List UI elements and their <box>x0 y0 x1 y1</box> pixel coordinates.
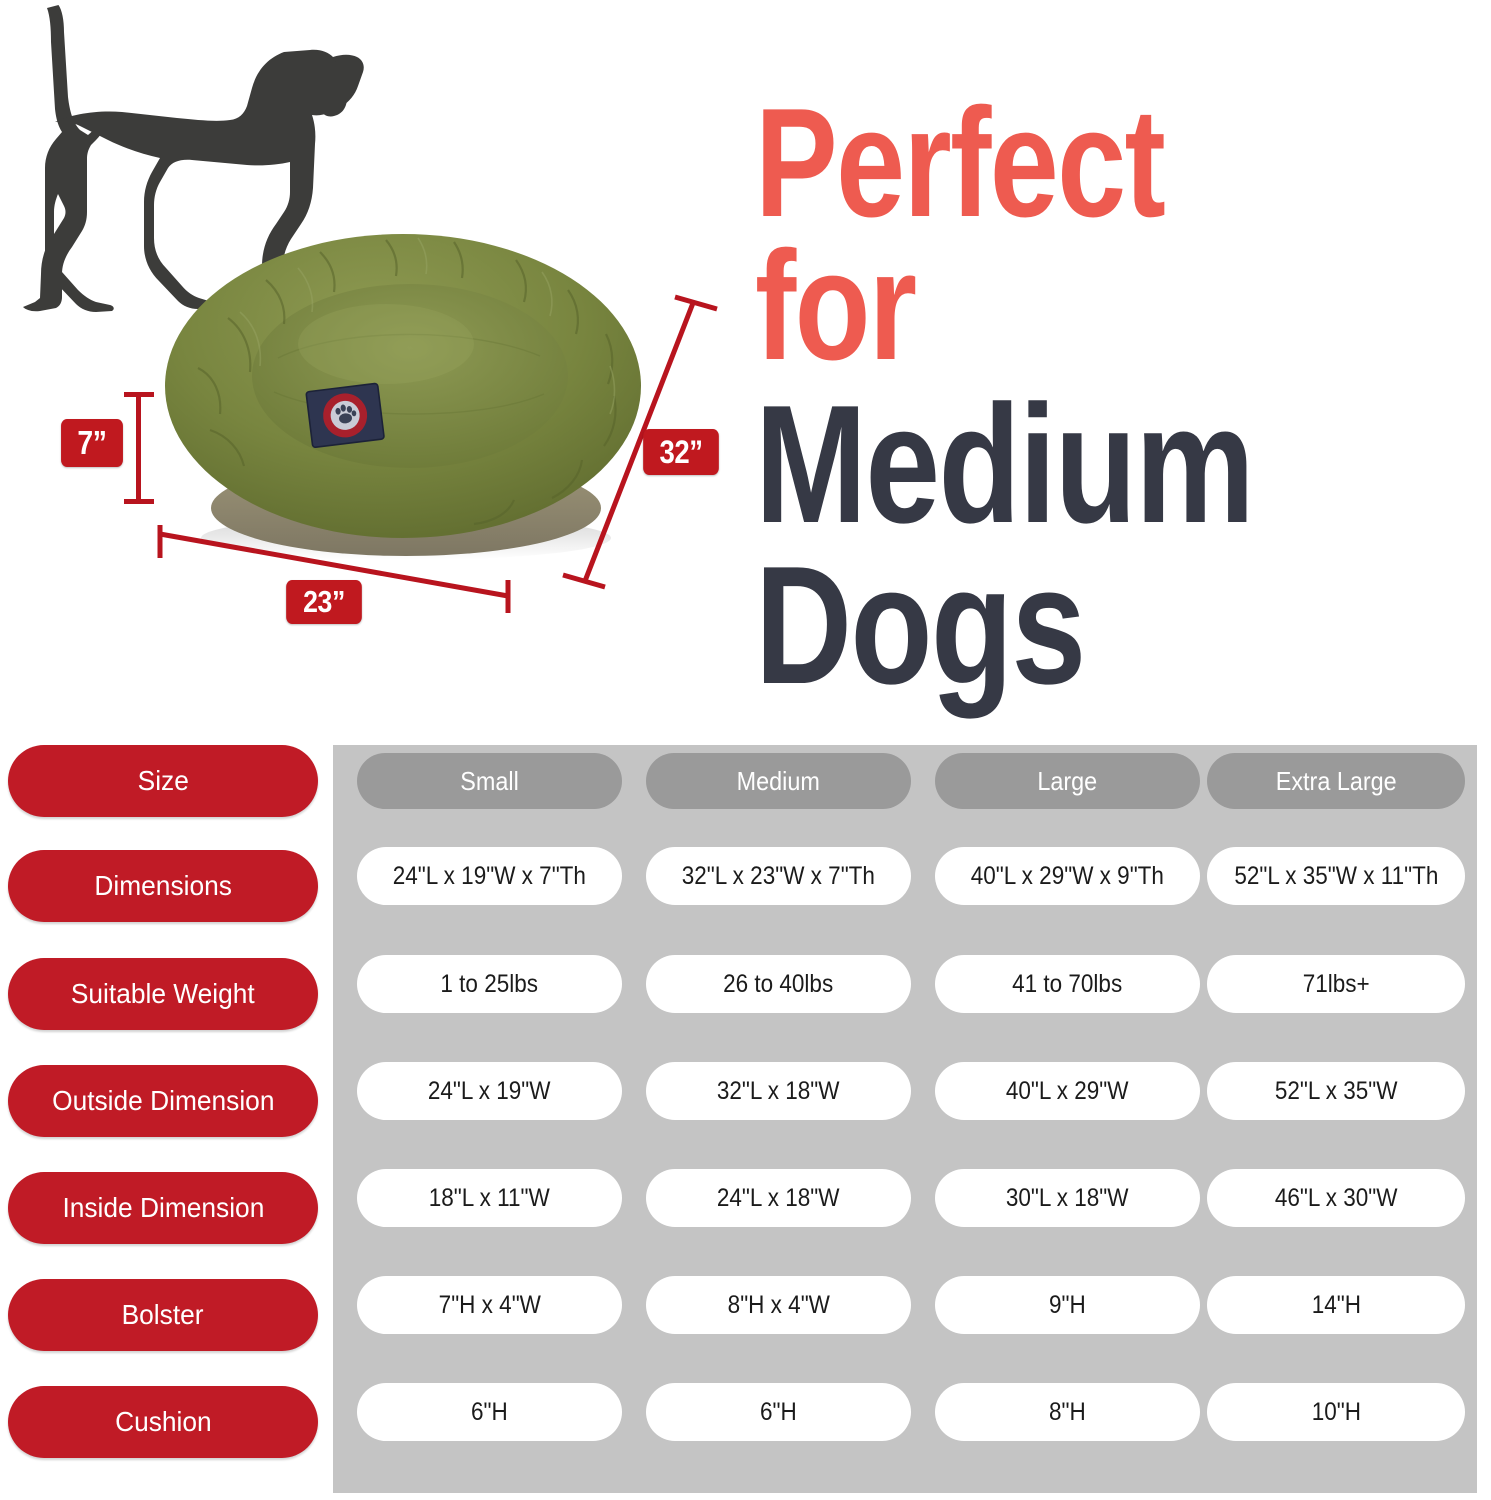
row-label-text: Suitable Weight <box>71 978 255 1010</box>
cell-text: 7"H x 4"W <box>438 1291 540 1320</box>
cell-weight-medium: 26 to 40lbs <box>646 955 911 1013</box>
cell-inside-small: 18"L x 11"W <box>357 1169 622 1227</box>
cell-text: 24"L x 18"W <box>717 1184 840 1213</box>
measure-line-height <box>136 392 141 504</box>
cell-text: 24"L x 19"W <box>428 1077 551 1106</box>
cell-text: 24"L x 19"W x 7"Th <box>393 862 586 891</box>
cell-text: 26 to 40lbs <box>723 970 833 999</box>
cell-dimensions-large: 40"L x 29"W x 9"Th <box>935 847 1200 905</box>
cell-text: 1 to 25lbs <box>441 970 539 999</box>
cell-text: 6"H <box>471 1398 508 1427</box>
row-label-text: Size <box>137 765 188 797</box>
row-label-text: Outside Dimension <box>52 1085 274 1117</box>
cell-outside-medium: 32"L x 18"W <box>646 1062 911 1120</box>
cell-weight-extra-large: 71lbs+ <box>1207 955 1465 1013</box>
column-header-small: Small <box>357 753 622 809</box>
cell-text: 40"L x 29"W <box>1006 1077 1129 1106</box>
brand-tag-icon <box>306 383 384 447</box>
cell-cushion-extra-large: 10"H <box>1207 1383 1465 1441</box>
column-header-text: Large <box>1038 766 1098 797</box>
headline-line-1: Perfect for <box>755 92 1339 377</box>
cell-weight-large: 41 to 70lbs <box>935 955 1200 1013</box>
callout-badge-width: 23” <box>286 580 362 624</box>
row-label-text: Dimensions <box>94 870 232 902</box>
cell-text: 40"L x 29"W x 9"Th <box>971 862 1164 891</box>
column-header-text: Small <box>460 766 519 797</box>
cell-inside-large: 30"L x 18"W <box>935 1169 1200 1227</box>
cell-inside-medium: 24"L x 18"W <box>646 1169 911 1227</box>
cell-cushion-medium: 6"H <box>646 1383 911 1441</box>
callout-badge-length: 32” <box>643 429 719 475</box>
cell-text: 30"L x 18"W <box>1006 1184 1129 1213</box>
cell-text: 32"L x 23"W x 7"Th <box>682 862 875 891</box>
row-label-inside-dimension: Inside Dimension <box>8 1172 318 1244</box>
cell-text: 71lbs+ <box>1303 970 1370 999</box>
cell-bolster-small: 7"H x 4"W <box>357 1276 622 1334</box>
callout-badge-height: 7” <box>61 419 123 467</box>
row-label-size: Size <box>8 745 318 817</box>
cell-text: 41 to 70lbs <box>1012 970 1122 999</box>
cell-text: 6"H <box>760 1398 797 1427</box>
cell-text: 14"H <box>1311 1291 1360 1320</box>
row-label-bolster: Bolster <box>8 1279 318 1351</box>
column-header-text: Extra Large <box>1276 766 1397 797</box>
size-chart: Size Dimensions Suitable Weight Outside … <box>0 735 1491 1500</box>
cell-text: 8"H x 4"W <box>727 1291 829 1320</box>
cell-outside-extra-large: 52"L x 35"W <box>1207 1062 1465 1120</box>
cell-dimensions-extra-large: 52"L x 35"W x 11"Th <box>1207 847 1465 905</box>
measure-cap-height-top <box>124 392 154 397</box>
cell-text: 52"L x 35"W x 11"Th <box>1234 862 1438 891</box>
headline-line-2: Medium <box>755 387 1339 542</box>
cell-bolster-large: 9"H <box>935 1276 1200 1334</box>
row-label-text: Cushion <box>115 1406 212 1438</box>
cell-outside-small: 24"L x 19"W <box>357 1062 622 1120</box>
cell-cushion-small: 6"H <box>357 1383 622 1441</box>
cell-text: 52"L x 35"W <box>1275 1077 1398 1106</box>
cell-text: 10"H <box>1311 1398 1360 1427</box>
cell-text: 8"H <box>1049 1398 1086 1427</box>
cell-weight-small: 1 to 25lbs <box>357 955 622 1013</box>
cell-text: 32"L x 18"W <box>717 1077 840 1106</box>
headline: Perfect for Medium Dogs <box>755 92 1485 702</box>
cell-text: 18"L x 11"W <box>429 1184 550 1213</box>
row-label-dimensions: Dimensions <box>8 850 318 922</box>
cell-dimensions-medium: 32"L x 23"W x 7"Th <box>646 847 911 905</box>
row-label-outside-dimension: Outside Dimension <box>8 1065 318 1137</box>
headline-line-3: Dogs <box>755 548 1339 703</box>
cell-bolster-extra-large: 14"H <box>1207 1276 1465 1334</box>
row-label-text: Inside Dimension <box>62 1192 264 1224</box>
column-header-text: Medium <box>737 766 820 797</box>
row-label-text: Bolster <box>122 1299 204 1331</box>
cell-inside-extra-large: 46"L x 30"W <box>1207 1169 1465 1227</box>
row-label-cushion: Cushion <box>8 1386 318 1458</box>
row-label-suitable-weight: Suitable Weight <box>8 958 318 1030</box>
cell-cushion-large: 8"H <box>935 1383 1200 1441</box>
cell-dimensions-small: 24"L x 19"W x 7"Th <box>357 847 622 905</box>
cell-bolster-medium: 8"H x 4"W <box>646 1276 911 1334</box>
column-header-large: Large <box>935 753 1200 809</box>
measure-cap-height-bottom <box>124 499 154 504</box>
cell-text: 46"L x 30"W <box>1275 1184 1398 1213</box>
cell-outside-large: 40"L x 29"W <box>935 1062 1200 1120</box>
column-header-medium: Medium <box>646 753 911 809</box>
column-header-extra-large: Extra Large <box>1207 753 1465 809</box>
cell-text: 9"H <box>1049 1291 1086 1320</box>
hero-section: 7” 23” 32” Perfect for Medium Dogs <box>0 0 1491 735</box>
size-chart-label-column: Size Dimensions Suitable Weight Outside … <box>8 745 318 1493</box>
